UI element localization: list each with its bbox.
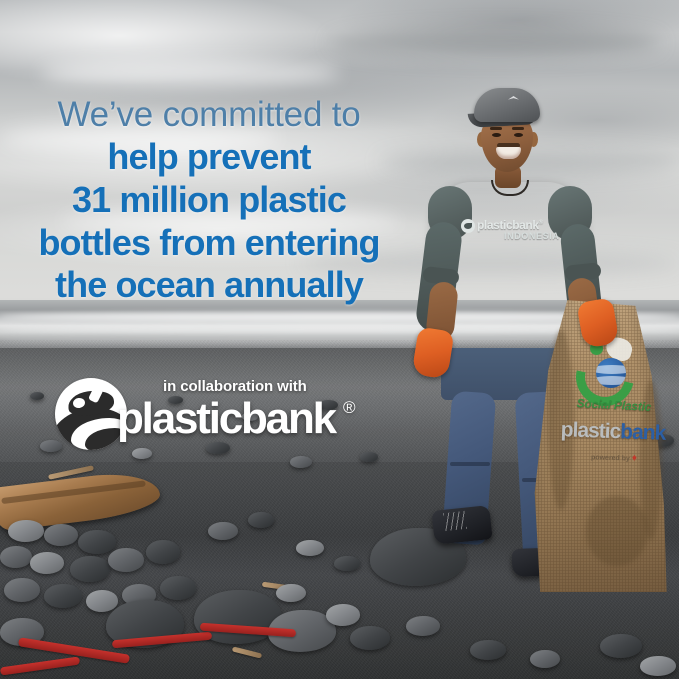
headline-line-4: bottles from entering xyxy=(0,224,418,263)
headline-block: We’ve committed to help prevent 31 milli… xyxy=(0,96,418,305)
headline-line-2: help prevent xyxy=(0,138,418,177)
eyebrow-right xyxy=(512,127,524,130)
sack-brand-part2: bank xyxy=(620,420,666,445)
boot-laces xyxy=(443,511,467,531)
baseball-cap xyxy=(474,88,540,122)
shirt-registered-mark: ® xyxy=(539,220,543,226)
plasticbank-wordmark: plasticbank xyxy=(117,394,335,444)
eyebrow-left xyxy=(490,127,502,130)
shirt-country-text: INDONESIA xyxy=(504,231,559,241)
shirt-logo-icon xyxy=(461,219,475,233)
social-plastic-globe-icon xyxy=(576,342,628,392)
headline-line-5: the ocean annually xyxy=(0,266,418,305)
sack-brand-part1: plastic xyxy=(560,418,620,443)
jeans-fold xyxy=(450,462,490,466)
collaboration-block: in collaboration with plasticbank ® xyxy=(55,372,365,452)
headline-line-3: 31 million plastic xyxy=(0,181,418,220)
sack-brand-wordmark: plasticbank xyxy=(558,418,669,446)
shirt-brand-text: plasticbank® xyxy=(477,218,543,232)
poster-image: plasticbank® INDONESIA Social Plastic pl… xyxy=(0,0,679,679)
collaboration-label: in collaboration with xyxy=(163,378,307,395)
sack-fold xyxy=(586,496,648,566)
registered-mark: ® xyxy=(343,398,356,418)
powered-by-logo-icon: ♦ xyxy=(632,453,637,464)
globe-blue-sphere xyxy=(596,358,626,388)
powered-by-label: powered by xyxy=(591,454,630,462)
eye-right xyxy=(514,133,523,137)
headline-line-1: We’ve committed to xyxy=(0,96,418,134)
shirt-brand-label: plasticbank xyxy=(477,218,539,232)
eye-left xyxy=(492,133,501,137)
